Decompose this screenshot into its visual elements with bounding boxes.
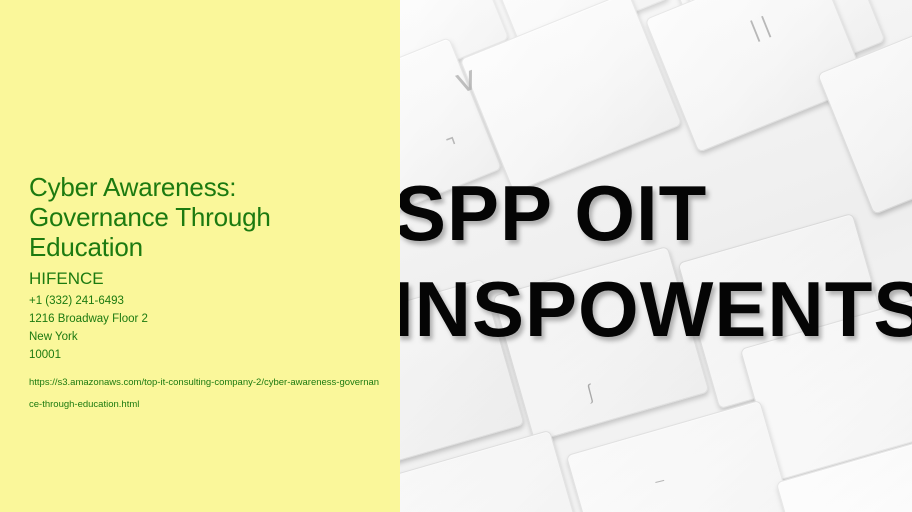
city-name: New York (29, 328, 385, 346)
poster-root: Cyber Awareness: Governance Through Educ… (0, 0, 912, 512)
headline-line-1: SPP OIT (400, 168, 707, 259)
key-glyph-v-icon: v (450, 58, 483, 102)
background-key (400, 0, 509, 96)
background-key (460, 0, 683, 193)
key-glyph-corner-icon: ⌝ (444, 134, 462, 161)
background-key (776, 427, 912, 512)
background-key (681, 0, 885, 103)
background-key (817, 17, 912, 215)
background-key (400, 430, 586, 512)
zip-code: 10001 (29, 346, 385, 364)
phone-number: +1 (332) 241-6493 (29, 292, 385, 310)
address-line: 1216 Broadway Floor 2 (29, 310, 385, 328)
key-glyph-ticks-icon: ⎮⎮ (747, 14, 777, 43)
text-block: Cyber Awareness: Governance Through Educ… (29, 172, 385, 416)
background-key (566, 400, 797, 512)
source-url[interactable]: https://s3.amazonaws.com/top-it-consulti… (29, 372, 381, 416)
page-title: Cyber Awareness: Governance Through Educ… (29, 172, 385, 262)
background-key (637, 0, 830, 12)
key-glyph-box-icon: ⎰ (577, 376, 603, 409)
key-glyph-curl-icon: ⎯ (653, 469, 667, 492)
headline-line-2: INSPOWENTS (400, 264, 912, 355)
company-name: HIFENCE (29, 268, 385, 289)
right-image-panel: v ⌝ ⎮⎮ ⎰ ⎲ ⎯ (400, 0, 912, 512)
background-key (645, 0, 868, 153)
background-key (477, 0, 670, 57)
left-info-panel: Cyber Awareness: Governance Through Educ… (0, 0, 400, 512)
